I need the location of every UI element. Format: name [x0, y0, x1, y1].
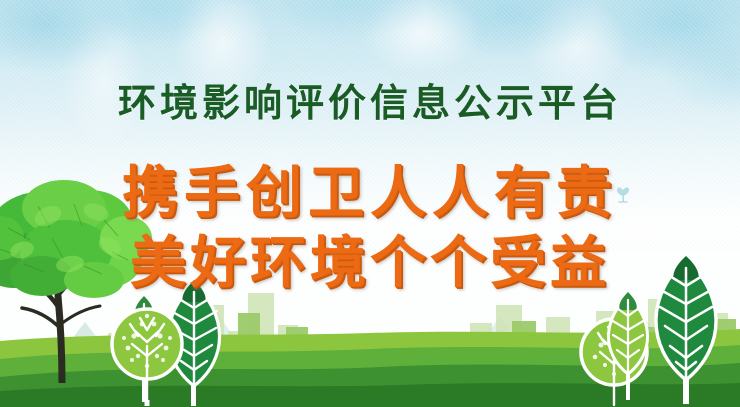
slogan-line-2: 美好环境个个受益	[0, 218, 740, 299]
round-tree-icon	[110, 300, 185, 406]
environmental-banner: 环境影响评价信息公示平台 携手创卫人人有责 美好环境个个受益	[0, 0, 740, 407]
page-title: 环境影响评价信息公示平台	[0, 72, 740, 127]
slogan-line-1: 携手创卫人人有责	[0, 148, 740, 229]
